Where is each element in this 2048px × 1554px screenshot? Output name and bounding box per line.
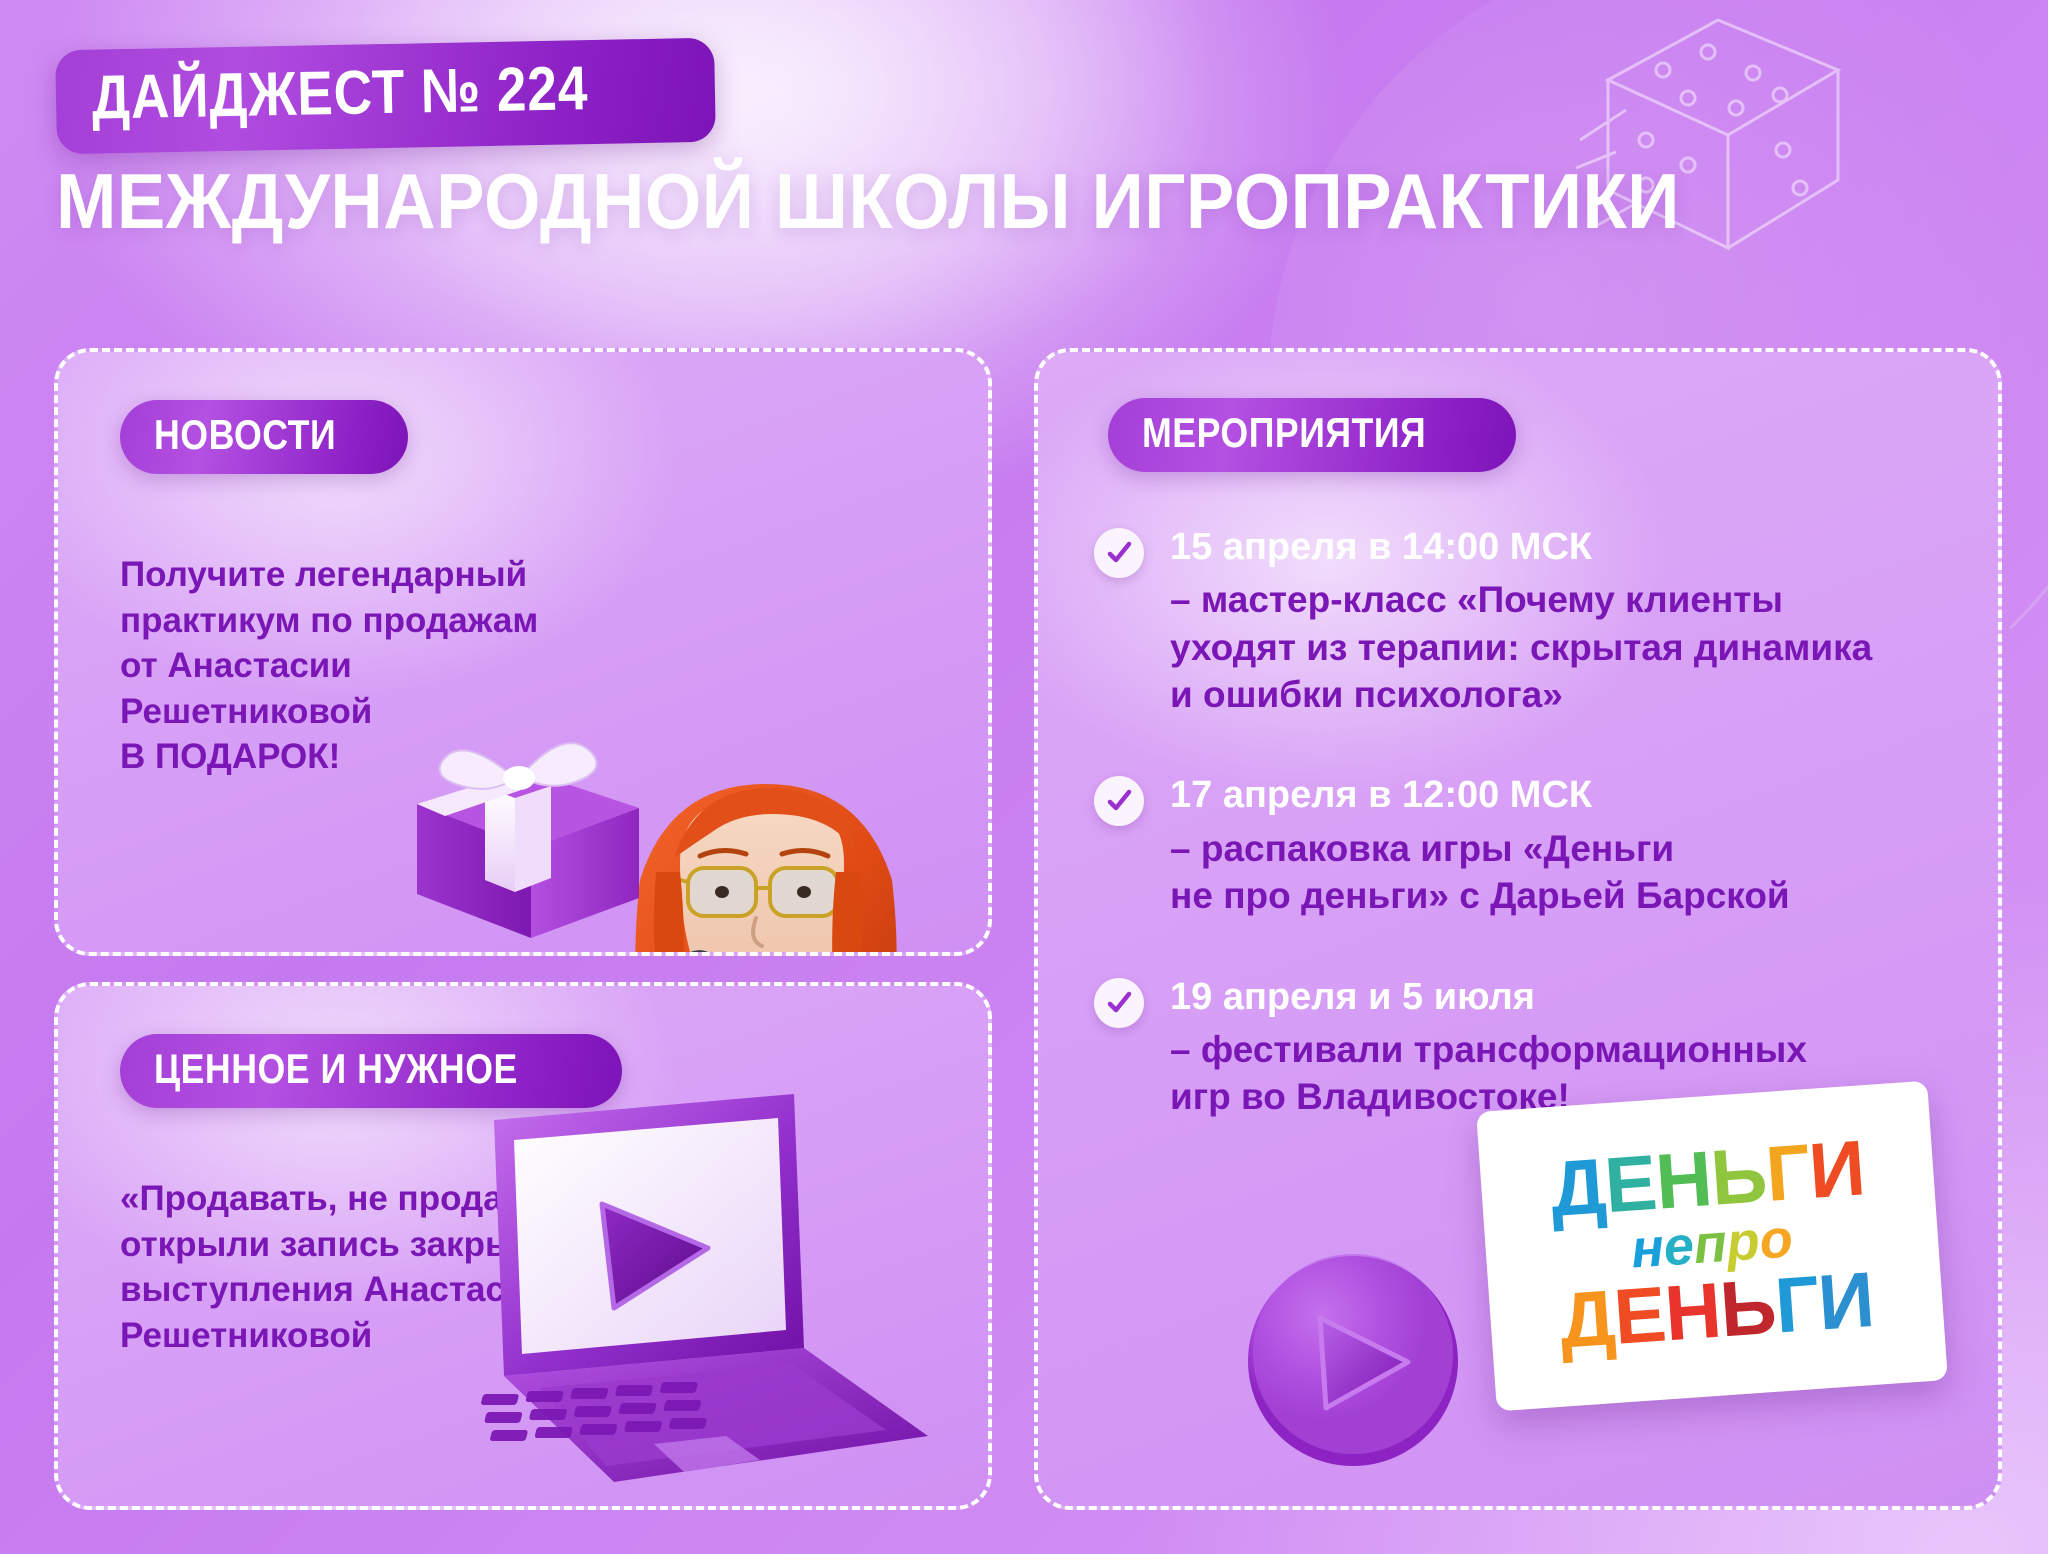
list-item: 17 апреля в 12:00 МСК – распаковка игры … [1094,772,1958,919]
dice-icon [1568,0,1888,290]
events-pill: МЕРОПРИЯТИЯ [1108,398,1516,472]
event-description: – мастер-класс «Почему клиенты уходят из… [1170,576,1958,718]
check-icon [1094,528,1144,578]
play-button-icon [1238,1246,1468,1476]
digest-badge: ДАЙДЖЕСТ № 224 [55,38,716,155]
news-body-text: Получите легендарный практикум по продаж… [120,552,590,780]
event-text: 17 апреля в 12:00 МСК – распаковка игры … [1170,772,1958,919]
news-pill-label: НОВОСТИ [154,414,336,456]
card-news: НОВОСТИ Получите легендарный практикум п… [54,348,992,956]
digest-badge-label: ДАЙДЖЕСТ № 224 [91,58,588,130]
money-logo: ДЕНЬГИ не про ДЕНЬГИ ДЕНЬГИ [1476,1081,1948,1412]
value-pill: ЦЕННОЕ И НУЖНОЕ [120,1034,622,1108]
card-value: ЦЕННОЕ И НУЖНОЕ «Продавать, не продавая»… [54,982,992,1510]
value-pill-label: ЦЕННОЕ И НУЖНОЕ [154,1048,518,1090]
money-logo-line1: ДЕНЬГИ [1548,1130,1867,1226]
event-date: 19 апреля и 5 июля [1170,974,1958,1020]
event-date: 15 апреля в 14:00 МСК [1170,524,1958,570]
check-icon [1094,978,1144,1028]
list-item: 15 апреля в 14:00 МСК – мастер-класс «По… [1094,524,1958,718]
card-events: МЕРОПРИЯТИЯ 15 апреля в 14:00 МСК – маст… [1034,348,2002,1510]
value-body-text: «Продавать, не продавая» – открыли запис… [120,1176,620,1358]
page-title: МЕЖДУНАРОДНОЙ ШКОЛЫ ИГРОПРАКТИКИ [56,162,1680,240]
money-logo-line3: ДЕНЬГИ [1557,1262,1876,1358]
events-list: 15 апреля в 14:00 МСК – мастер-класс «По… [1094,524,1958,1175]
poster-root: ДАЙДЖЕСТ № 224 МЕЖДУНАРОДНОЙ ШКОЛЫ ИГРОП… [0,0,2048,1554]
event-text: 15 апреля в 14:00 МСК – мастер-класс «По… [1170,524,1958,718]
check-icon [1094,776,1144,826]
news-pill: НОВОСТИ [120,400,408,474]
event-date: 17 апреля в 12:00 МСК [1170,772,1958,818]
events-pill-label: МЕРОПРИЯТИЯ [1142,412,1426,454]
event-description: – распаковка игры «Деньги не про деньги»… [1170,825,1958,920]
